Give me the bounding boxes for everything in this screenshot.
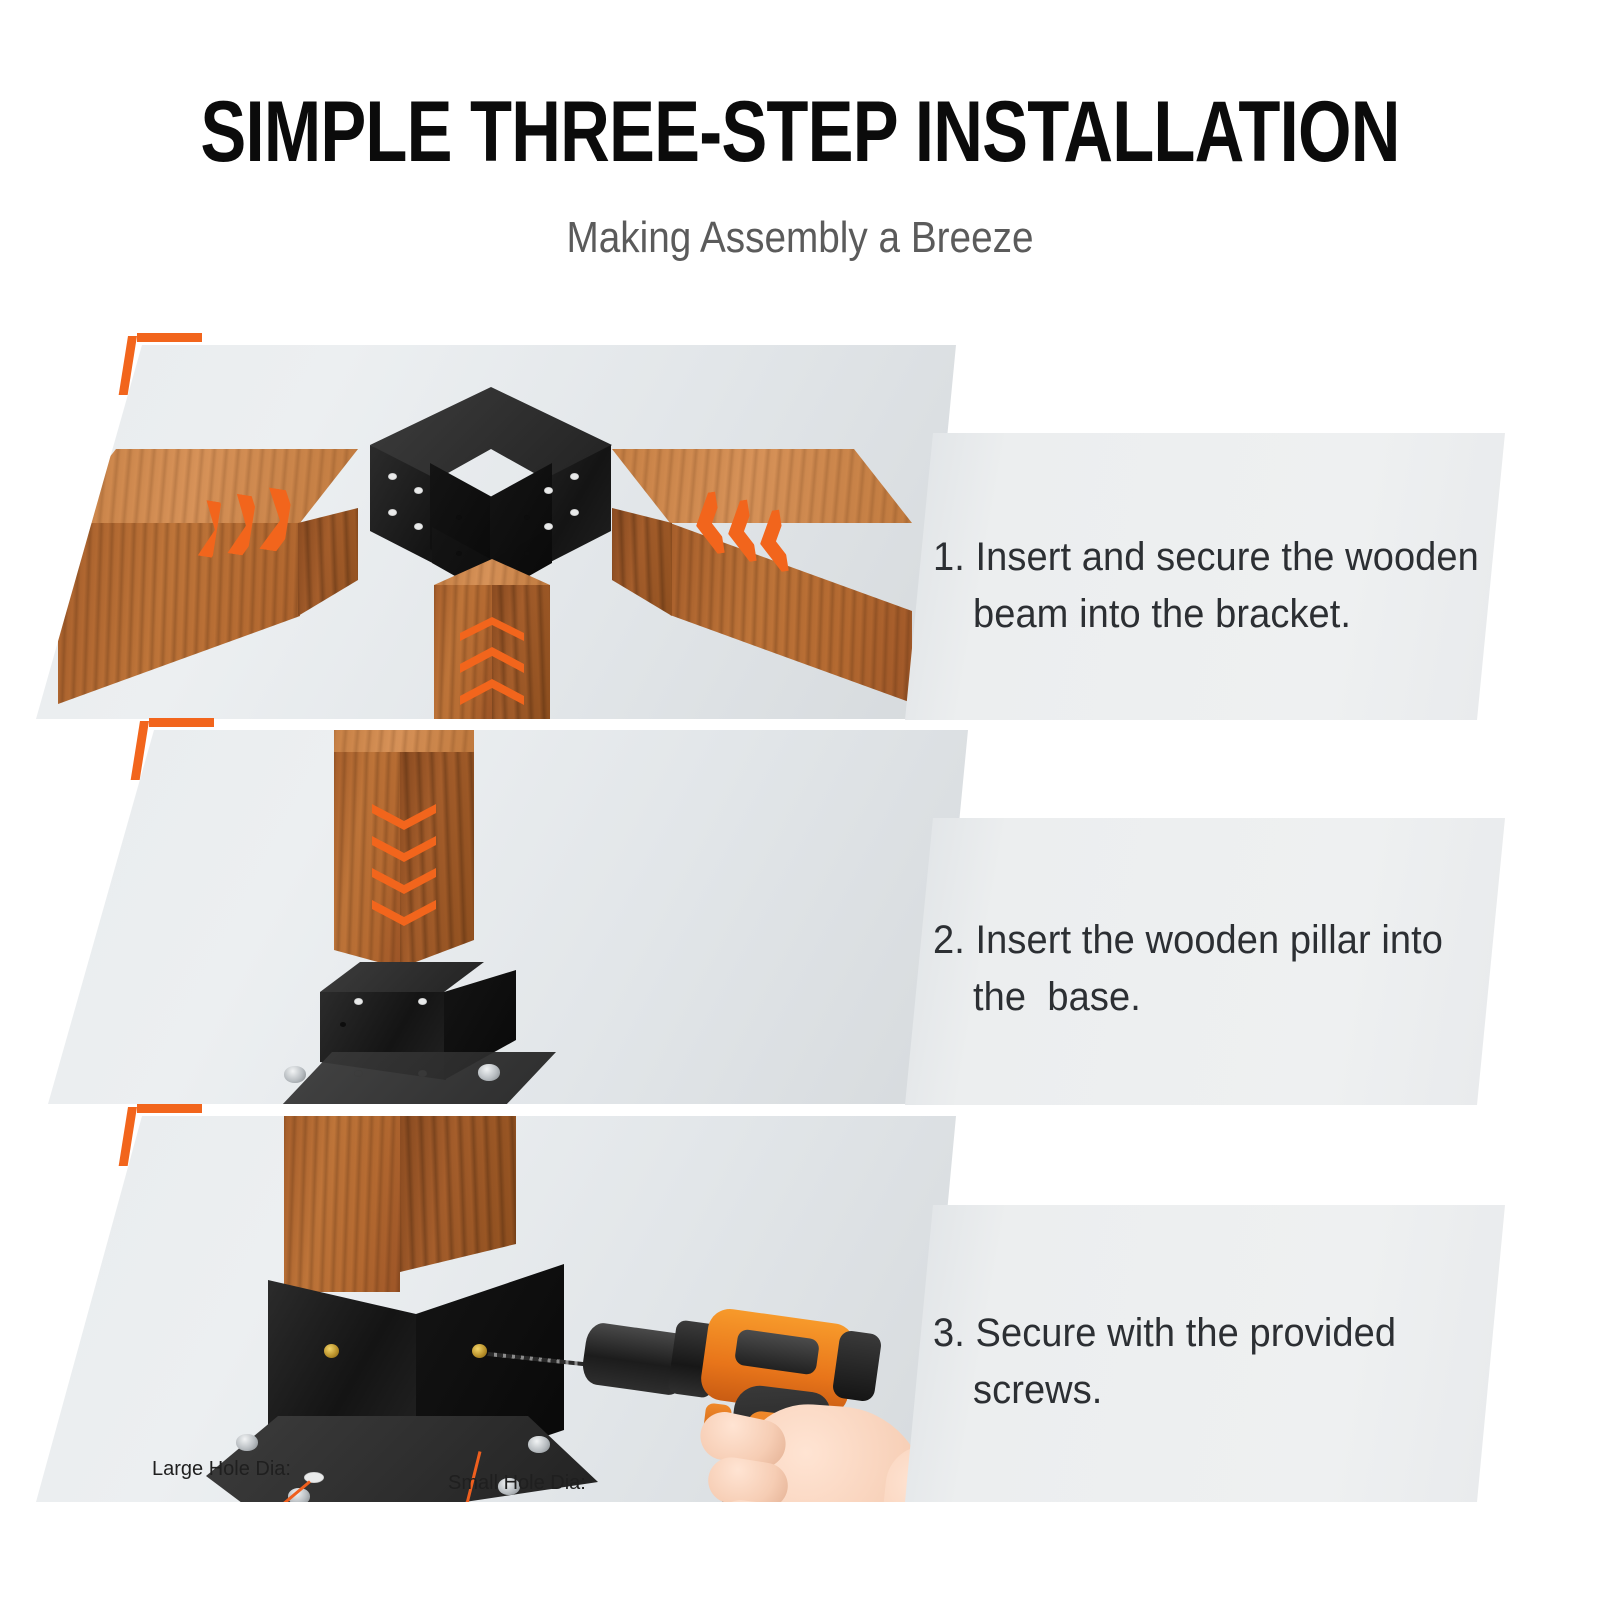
step-2-line-2: the base. xyxy=(973,969,1141,1026)
bracket-inner-hole-3 xyxy=(524,515,530,520)
bracket-hole-3 xyxy=(388,509,397,516)
base-hole-2 xyxy=(418,998,427,1005)
bracket-inner-hole-4 xyxy=(524,551,530,556)
step-1-illustration xyxy=(36,345,956,719)
small-hole-annotation: Small Hole Dia: φ7(0.27inch) xyxy=(448,1416,586,1502)
beam-right-front-face xyxy=(670,523,918,719)
pillar-front-right xyxy=(400,752,474,968)
infographic-canvas: SIMPLE THREE-STEP INSTALLATION Making As… xyxy=(0,0,1600,1600)
page-subtitle: Making Assembly a Breeze xyxy=(96,212,1504,264)
step-3-line-2: screws. xyxy=(973,1362,1102,1419)
step-1-image-panel xyxy=(36,345,956,719)
bracket-hole-2 xyxy=(414,487,423,494)
step-1-line-2: beam into the bracket. xyxy=(973,586,1351,643)
step-2-image-panel xyxy=(48,730,968,1104)
installed-base-screw-3 xyxy=(472,1344,487,1358)
step-1-text-panel: 1. Insert and secure the wooden beam int… xyxy=(905,433,1505,720)
small-hole-label: Small Hole Dia: xyxy=(448,1470,586,1497)
pillar-top-sliver xyxy=(334,730,474,754)
bracket-inner-hole-2 xyxy=(456,551,462,556)
step-2-illustration xyxy=(48,730,968,1104)
step-1-line-1: 1. Insert and secure the wooden xyxy=(933,529,1479,586)
flange-bolt-1 xyxy=(284,1066,306,1083)
drill-rear-cap xyxy=(831,1329,882,1402)
bracket-hole-7 xyxy=(570,509,579,516)
bracket-hole-8 xyxy=(544,523,553,530)
installed-post-left-face xyxy=(284,1116,400,1292)
pillar-front-left xyxy=(334,752,400,968)
bracket-hole-4 xyxy=(414,523,423,530)
large-hole-label: Large Hole Dia: xyxy=(152,1456,308,1483)
step-2-text-panel: 2. Insert the wooden pillar into the bas… xyxy=(905,818,1505,1105)
base-hole-small-1 xyxy=(340,1022,346,1027)
step-3-text-panel: 3. Secure with the provided screws. xyxy=(905,1205,1505,1502)
installed-base-screw-1 xyxy=(324,1344,339,1358)
step-3-image-panel: Large Hole Dia: φ11mm(0.43inch) Small Ho… xyxy=(36,1116,956,1502)
bracket-hole-6 xyxy=(544,487,553,494)
installed-post-right-face xyxy=(400,1116,516,1272)
bracket-hole-5 xyxy=(570,473,579,480)
bracket-hole-1 xyxy=(388,473,397,480)
step-2-line-1: 2. Insert the wooden pillar into xyxy=(933,912,1443,969)
bracket-inner-hole-1 xyxy=(456,515,462,520)
beam-right-end-face xyxy=(612,508,674,643)
beam-left-end-face xyxy=(298,508,360,643)
step-3-line-1: 3. Secure with the provided xyxy=(933,1305,1396,1362)
step-3-illustration: Large Hole Dia: φ11mm(0.43inch) Small Ho… xyxy=(36,1116,956,1502)
post-base-flange-plate xyxy=(264,1052,556,1104)
base-hole-1 xyxy=(354,998,363,1005)
large-hole-annotation: Large Hole Dia: φ11mm(0.43inch) xyxy=(152,1402,308,1502)
flange-bolt-3 xyxy=(478,1064,500,1081)
page-title: SIMPLE THREE-STEP INSTALLATION xyxy=(160,86,1440,178)
